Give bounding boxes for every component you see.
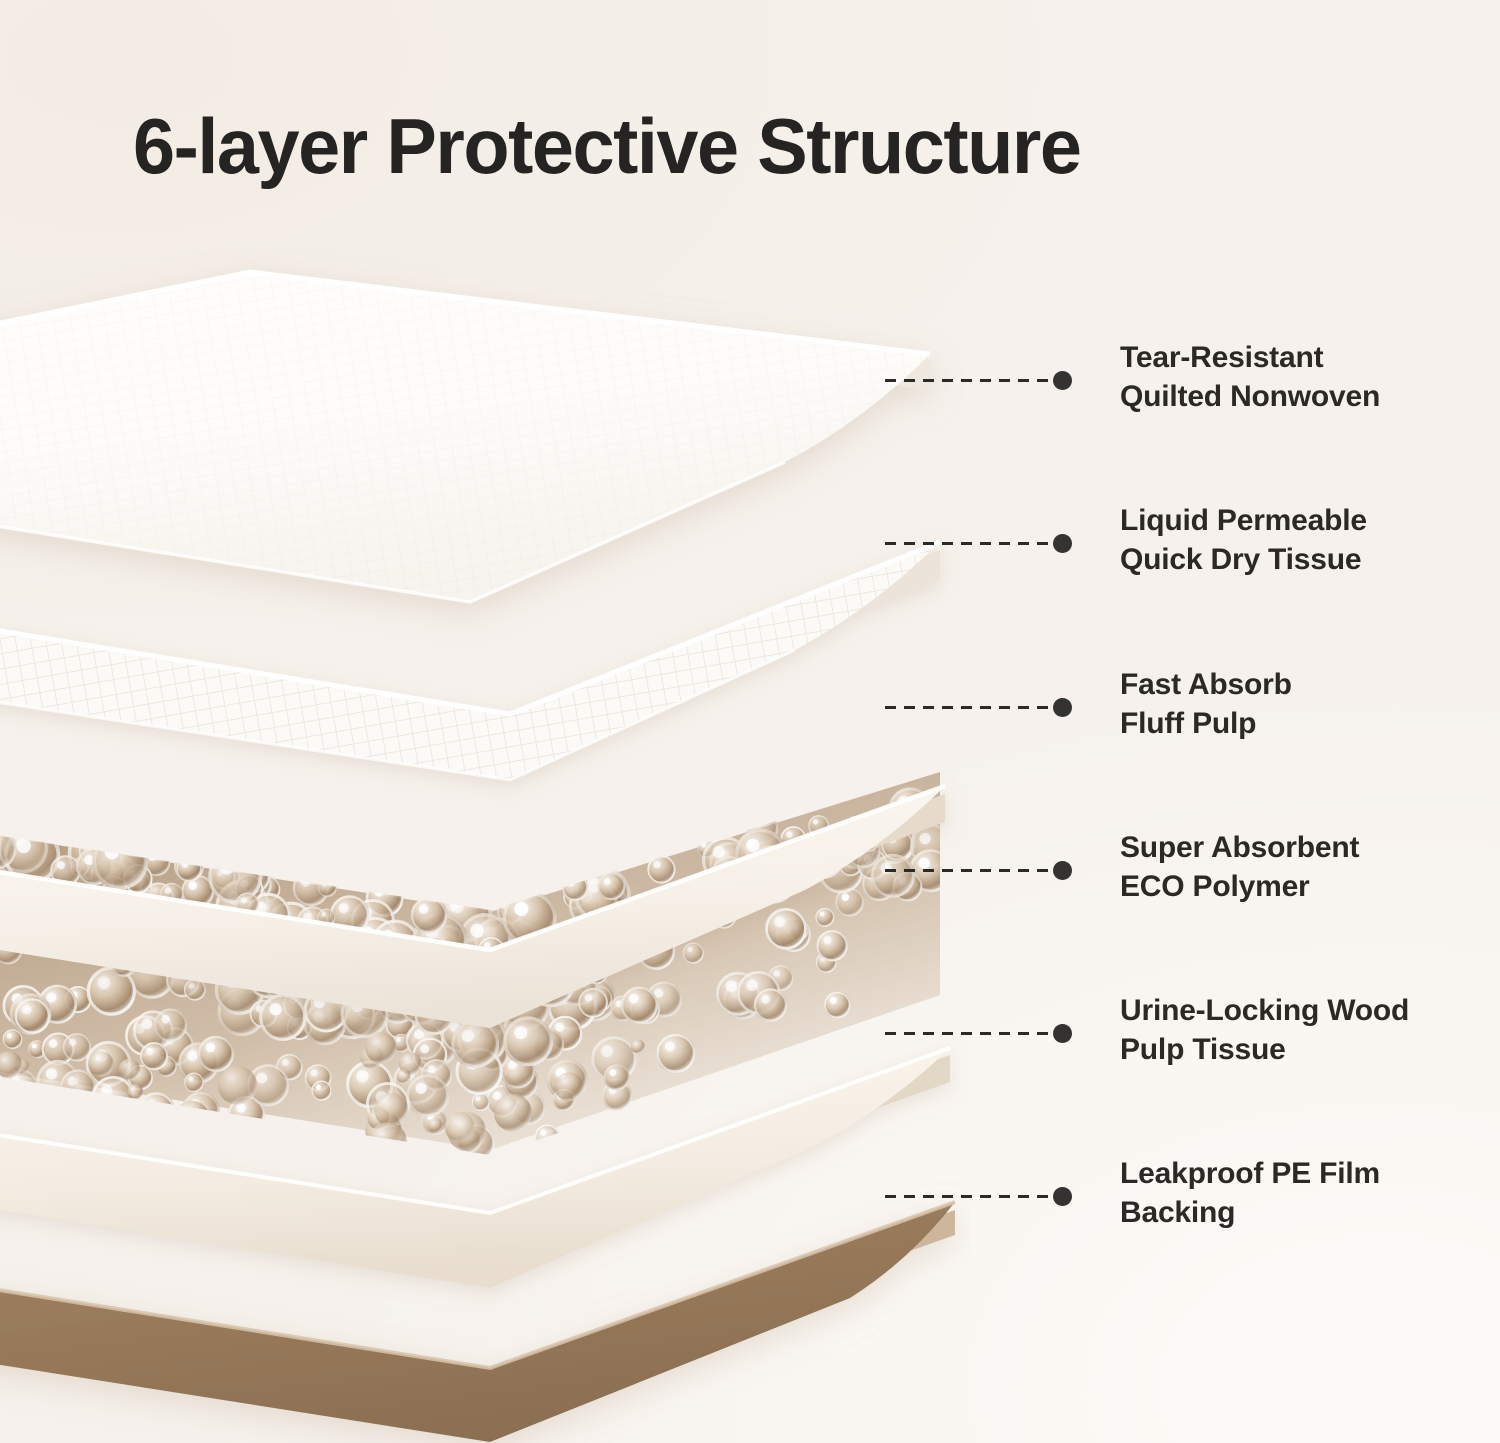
callout-3[interactable]: Fast AbsorbFluff Pulp [0,707,1500,708]
callout-list: Tear-ResistantQuilted NonwovenLiquid Per… [0,0,1500,1443]
leader-line-icon [885,869,1055,872]
leader-line-icon [885,379,1055,382]
callout-label-line1: Leakproof PE Film [1120,1157,1380,1190]
callout-5[interactable]: Urine-Locking WoodPulp Tissue [0,1033,1500,1034]
callout-label-line2: Pulp Tissue [1120,1031,1490,1070]
callout-dot-icon [1053,534,1072,553]
callout-label: Leakproof PE FilmBacking [1120,1155,1490,1232]
leader-line-icon [885,542,1055,545]
callout-label-line1: Super Absorbent [1120,831,1359,864]
callout-label-line2: Fluff Pulp [1120,705,1490,744]
callout-label-line1: Urine-Locking Wood [1120,994,1409,1027]
infographic-canvas: 6-layer Protective Structure [0,0,1500,1443]
callout-label-line2: Quilted Nonwoven [1120,378,1490,417]
callout-label-line1: Liquid Permeable [1120,504,1367,537]
callout-label-line2: Quick Dry Tissue [1120,541,1490,580]
callout-label: Tear-ResistantQuilted Nonwoven [1120,339,1490,416]
callout-label: Urine-Locking WoodPulp Tissue [1120,992,1490,1069]
callout-label-line2: ECO Polymer [1120,868,1490,907]
callout-label: Super AbsorbentECO Polymer [1120,829,1490,906]
callout-dot-icon [1053,1024,1072,1043]
leader-line-icon [885,706,1055,709]
callout-2[interactable]: Liquid PermeableQuick Dry Tissue [0,543,1500,544]
callout-label: Liquid PermeableQuick Dry Tissue [1120,502,1490,579]
callout-dot-icon [1053,698,1072,717]
callout-6[interactable]: Leakproof PE FilmBacking [0,1196,1500,1197]
callout-dot-icon [1053,861,1072,880]
leader-line-icon [885,1195,1055,1198]
callout-4[interactable]: Super AbsorbentECO Polymer [0,870,1500,871]
callout-label-line1: Fast Absorb [1120,668,1292,701]
callout-label-line1: Tear-Resistant [1120,341,1323,374]
callout-dot-icon [1053,371,1072,390]
callout-label-line2: Backing [1120,1194,1490,1233]
callout-label: Fast AbsorbFluff Pulp [1120,666,1490,743]
callout-dot-icon [1053,1187,1072,1206]
callout-1[interactable]: Tear-ResistantQuilted Nonwoven [0,380,1500,381]
leader-line-icon [885,1032,1055,1035]
